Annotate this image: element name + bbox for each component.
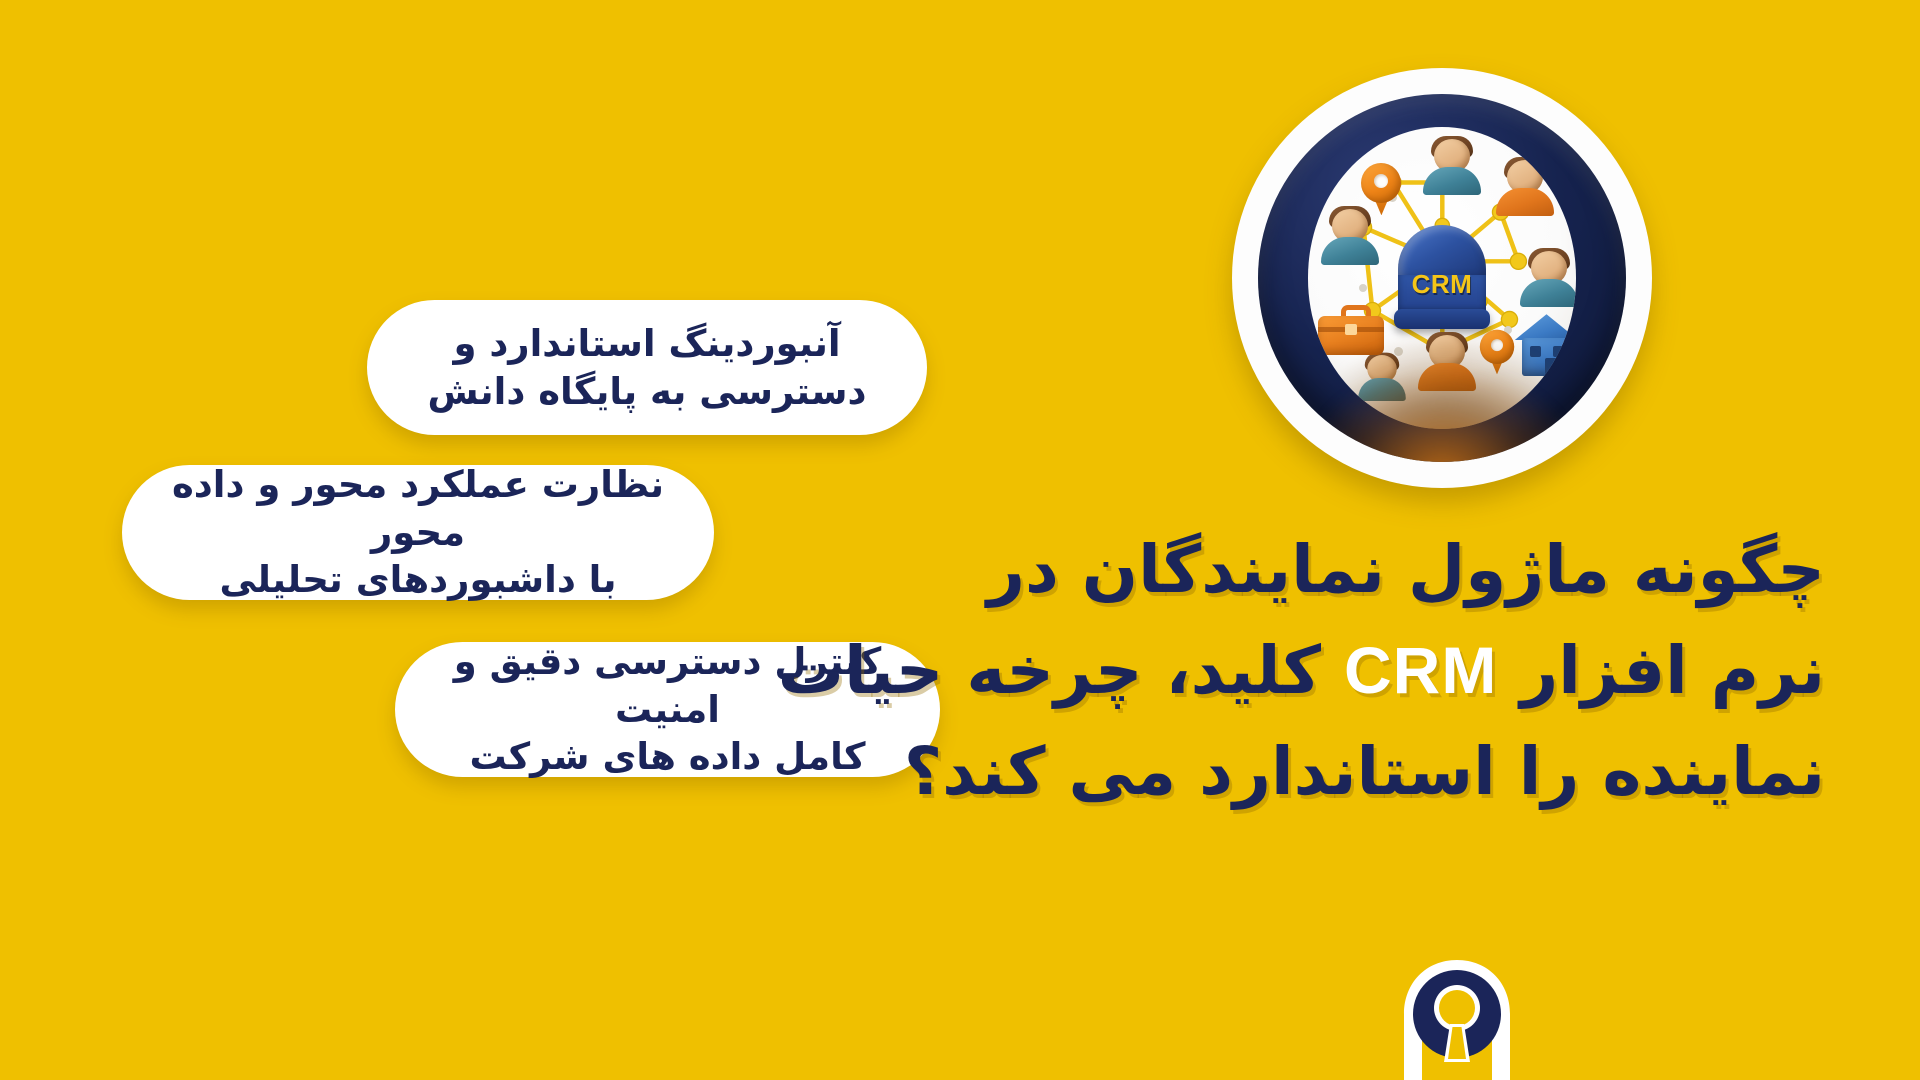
hub-base [1394,309,1490,329]
decor-speck [1394,347,1403,356]
headline-crm-highlight: CRM [1344,633,1497,707]
decor-speck [1359,284,1367,292]
page-title: چگونه ماژول نمایندگان در نرم افزار CRM ک… [725,520,1825,822]
torso [1496,188,1554,216]
person-right-teal [1520,251,1576,307]
illustration-navy-ring: CRM [1258,94,1626,462]
feature-pill-text: نظارت عملکرد محور و داده محور با داشبورد… [122,461,714,603]
briefcase-lock [1345,324,1357,335]
person-bottom-left-teal [1359,355,1407,401]
brand-logo [1398,958,1516,1080]
headline-line-3: نماینده را استاندارد می کند؟ [725,722,1825,822]
pin-head [1480,330,1514,364]
house-roof [1515,314,1577,340]
house-icon [1515,314,1577,376]
house-window [1553,346,1564,357]
feature-pill-onboarding: آنبوردینگ استاندارد و دسترسی به پایگاه د… [367,300,927,435]
torso [1520,279,1576,307]
person-bottom-orange [1418,335,1476,391]
briefcase-icon [1318,305,1384,355]
headline-line-2: نرم افزار CRM کلید، چرخه حیات [725,620,1825,721]
hub-label: CRM [1394,269,1490,300]
torso [1423,167,1481,195]
house-body [1522,338,1572,376]
crm-network-illustration: CRM [1232,68,1652,488]
torso [1321,237,1379,265]
torso [1418,363,1476,391]
hair [1365,353,1399,371]
house-window [1553,362,1564,373]
person-left-teal [1321,209,1379,265]
location-pin-icon [1361,163,1401,215]
pin-tip [1487,352,1506,374]
illustration-inner-disc: CRM [1308,127,1577,429]
crm-hub: CRM [1394,225,1490,331]
briefcase-body [1318,316,1384,355]
headline-line-2-before: نرم افزار [1497,632,1825,709]
feature-pill-monitoring: نظارت عملکرد محور و داده محور با داشبورد… [122,465,714,600]
brand-logo-keyhole-icon [1398,958,1516,1080]
pin-dot [1491,339,1503,351]
headline-line-1: چگونه ماژول نمایندگان در [725,520,1825,620]
poster-canvas: CRM [0,0,1920,1080]
head [1368,355,1398,383]
feature-pill-text: آنبوردینگ استاندارد و دسترسی به پایگاه د… [427,320,866,415]
torso [1359,378,1407,401]
headline-line-2-after: کلید، چرخه حیات [778,632,1344,709]
person-top-teal [1423,139,1481,195]
head [1429,335,1465,369]
house-window [1530,346,1541,357]
person-top-right-orange [1496,160,1554,216]
location-pin-icon [1480,330,1514,375]
house-door [1545,358,1558,376]
